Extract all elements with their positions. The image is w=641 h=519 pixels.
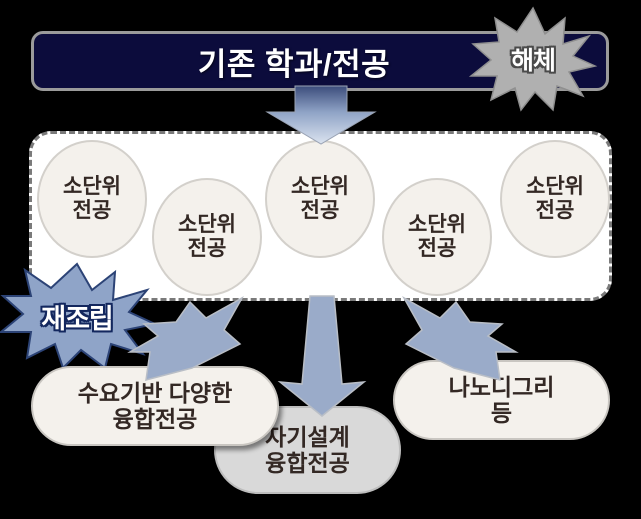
arrow-subunits-to-outcome-1	[128, 296, 248, 382]
outcome-3-line2: 등	[491, 400, 512, 426]
arrow-header-to-subunits	[265, 86, 377, 146]
badge-dismantle-label: 해체	[511, 41, 555, 77]
subunit-major-5-line1: 소단위	[526, 175, 584, 199]
subunit-major-2: 소단위 전공	[152, 178, 262, 296]
subunit-major-4: 소단위 전공	[382, 178, 492, 296]
badge-dismantle: 해체	[469, 6, 597, 112]
arrow-subunits-to-outcome-3	[396, 296, 518, 382]
arrow-subunits-to-outcome-2	[276, 296, 366, 418]
outcome-2-line2: 융합전공	[265, 450, 350, 476]
subunit-major-2-line1: 소단위	[178, 213, 236, 237]
subunit-major-1-line1: 소단위	[63, 175, 121, 199]
subunit-major-4-line1: 소단위	[408, 213, 466, 237]
subunit-major-5: 소단위 전공	[500, 140, 610, 258]
subunit-major-2-line2: 전공	[188, 237, 227, 261]
subunit-major-3-line2: 전공	[301, 199, 340, 223]
diagram-canvas: 기존 학과/전공 해체 소단위 전공 소단위 전공 소단위 전공	[0, 0, 641, 519]
subunit-major-5-line2: 전공	[536, 199, 575, 223]
subunit-major-3: 소단위 전공	[265, 140, 375, 258]
subunit-major-1: 소단위 전공	[37, 140, 147, 258]
subunit-major-1-line2: 전공	[73, 199, 112, 223]
outcome-1-line2: 융합전공	[113, 406, 198, 432]
subunit-major-3-line1: 소단위	[291, 175, 349, 199]
page-title: 기존 학과/전공	[198, 39, 390, 84]
subunit-major-4-line2: 전공	[418, 237, 457, 261]
outcome-2-line1: 자기설계	[265, 424, 350, 450]
outcome-1-line1: 수요기반 다양한	[78, 380, 233, 406]
badge-reassemble-label: 재조립	[41, 297, 113, 336]
